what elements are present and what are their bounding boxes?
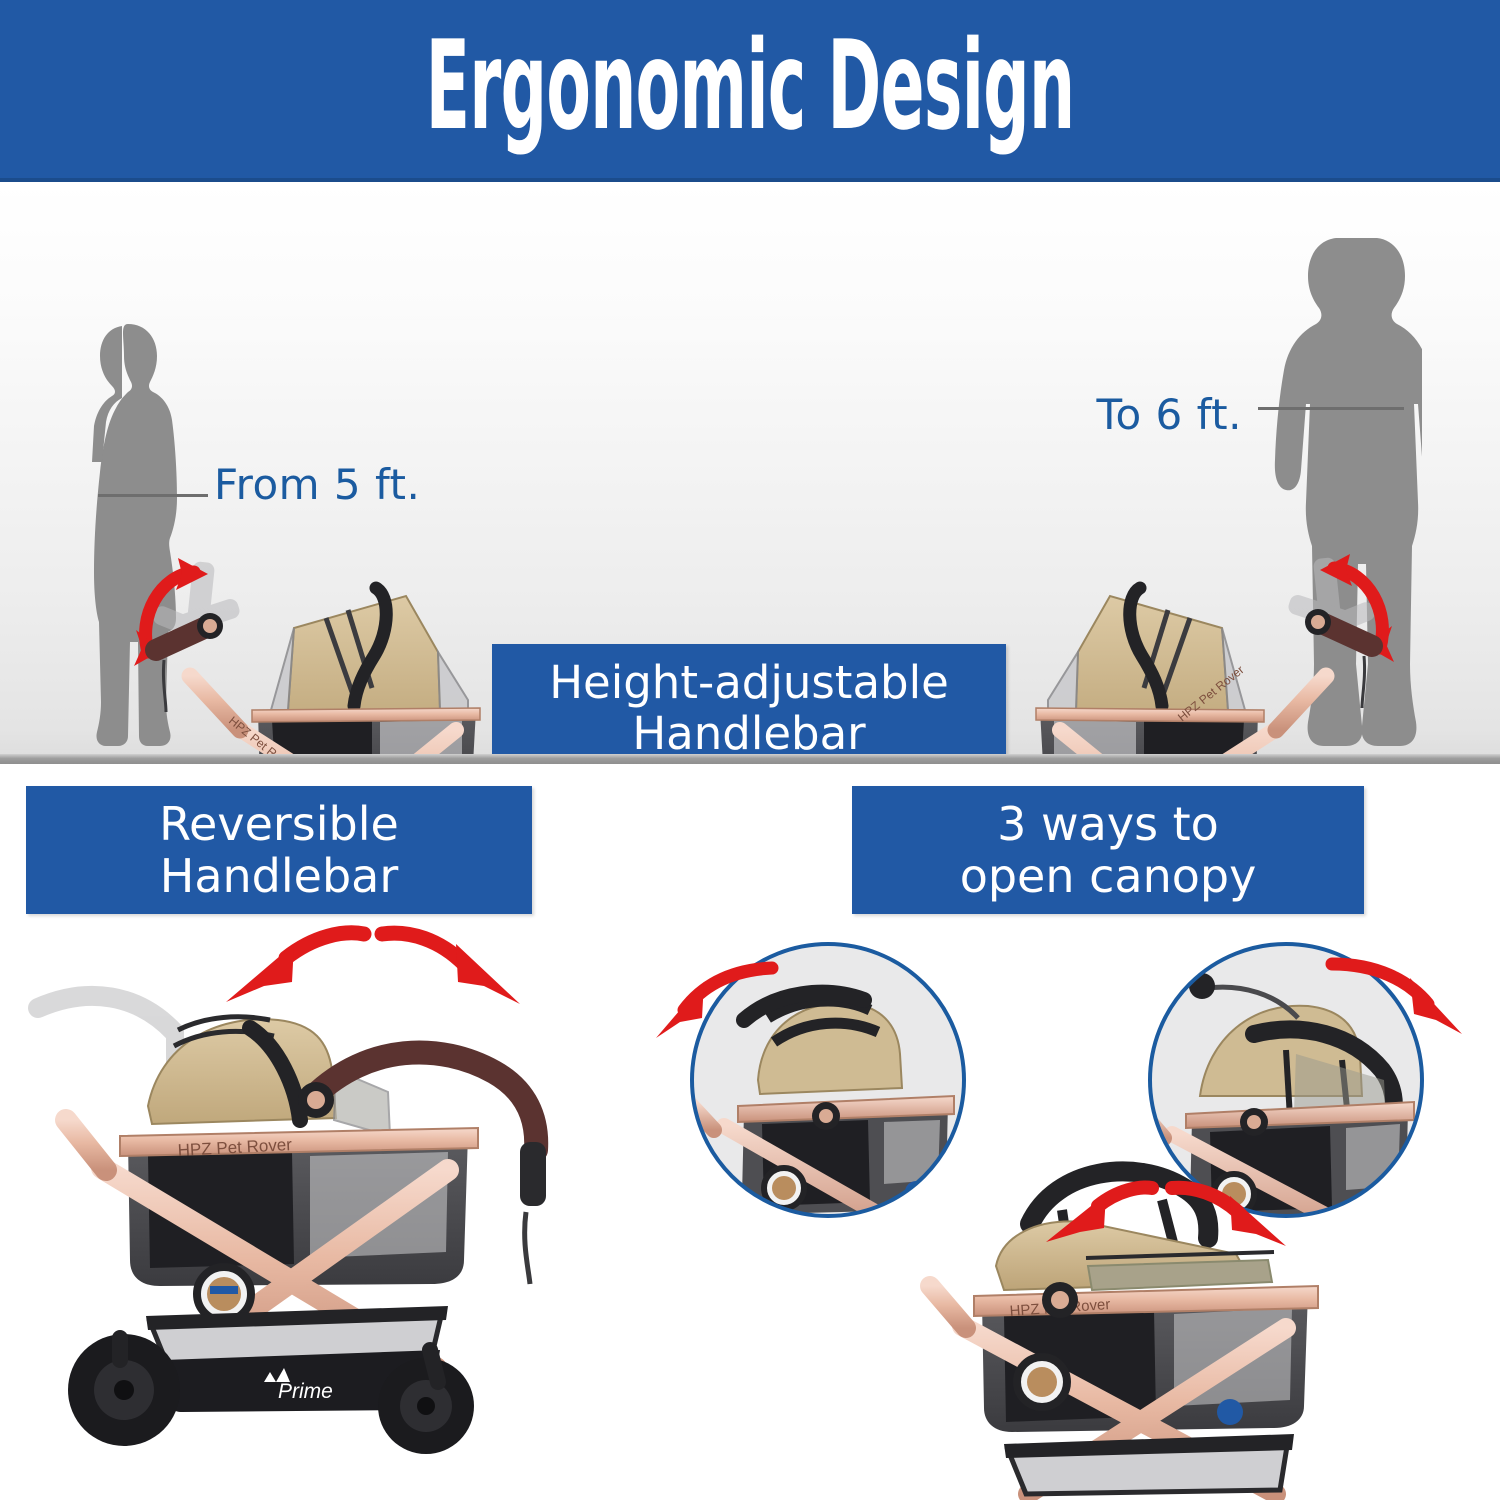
height-label-to: To 6 ft. [1096,390,1242,439]
stroller-image-reversible: HPZ Pet Rover Prime [28,920,598,1460]
basket-brand-text: Prime [278,1380,333,1403]
ground-line [0,754,1500,764]
page-title: Ergonomic Design [426,25,1075,156]
callout-line-1: 3 ways to [997,798,1219,850]
callout-reversible-handlebar: Reversible Handlebar [26,786,532,914]
handlebar-adjust-arrow-left-icon [112,554,292,734]
callout-3-ways-open-canopy: 3 ways to open canopy [852,786,1364,914]
callout-line-1: Reversible [159,798,399,850]
callout-height-adjustable-handlebar: Height-adjustable Handlebar [492,644,1006,764]
canopy-open-arrows-icon [1000,1180,1320,1290]
callout-line-2: Handlebar [160,850,399,902]
callout-line-2: Handlebar [632,708,865,759]
infographic-page: Ergonomic Design From 5 ft. To 6 ft. [0,0,1500,1500]
height-reference-line-left [98,494,208,497]
ghost-handlebar [38,996,184,1070]
callout-line-1: Height-adjustable [549,657,949,708]
handlebar-adjust-arrow-right-icon [1236,550,1416,730]
callout-line-2: open canopy [960,850,1257,902]
height-adjustable-panel: From 5 ft. To 6 ft. [0,182,1500,764]
header-banner: Ergonomic Design [0,0,1500,182]
height-label-from: From 5 ft. [214,460,420,509]
height-reference-line-right [1258,407,1404,410]
